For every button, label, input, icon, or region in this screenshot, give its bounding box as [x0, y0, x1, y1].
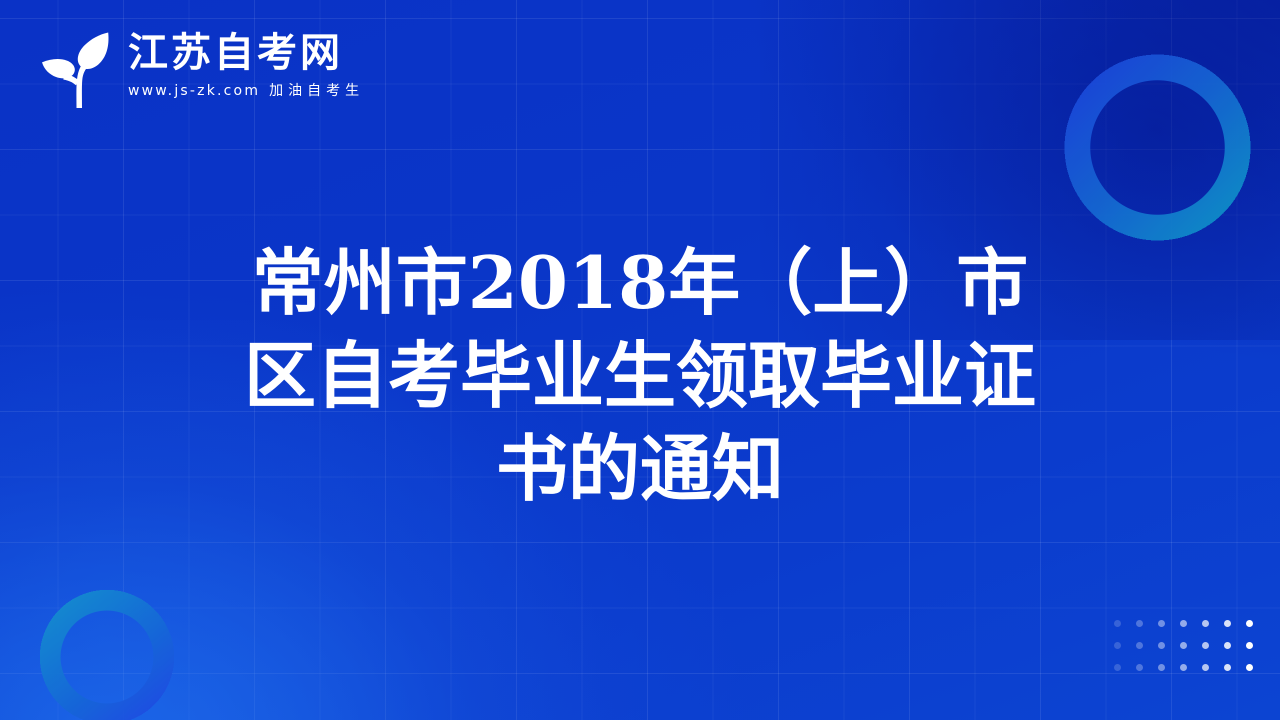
logo-wordmark: 江苏自考网 www.js-zk.com 加油自考生	[128, 32, 364, 99]
page-title-line: 常州市2018年（上）市	[180, 236, 1100, 329]
decorative-dot	[1158, 642, 1165, 649]
logo-site-name: 江苏自考网	[128, 32, 364, 75]
page-title-line: 区自考毕业生领取毕业证	[180, 329, 1100, 422]
decorative-dot	[1246, 642, 1253, 649]
decorative-dot	[1202, 664, 1209, 671]
page-title-line: 书的通知	[180, 422, 1100, 515]
decorative-dot	[1136, 620, 1143, 627]
decorative-dot	[1158, 664, 1165, 671]
decorative-dot	[1224, 642, 1231, 649]
poster-canvas: 江苏自考网 www.js-zk.com 加油自考生 常州市2018年（上）市 区…	[0, 0, 1280, 720]
site-logo[interactable]: 江苏自考网 www.js-zk.com 加油自考生	[36, 24, 364, 108]
logo-subline: www.js-zk.com 加油自考生	[128, 80, 364, 100]
ring-stroke	[12, 562, 202, 720]
decorative-dot	[1180, 664, 1187, 671]
decorative-dot	[1136, 664, 1143, 671]
decorative-ring-bottom-left	[12, 562, 202, 720]
page-title: 常州市2018年（上）市 区自考毕业生领取毕业证 书的通知	[0, 236, 1280, 515]
decorative-dot	[1114, 620, 1121, 627]
decorative-dot	[1224, 620, 1231, 627]
logo-url: www.js-zk.com	[128, 83, 260, 99]
decorative-dot	[1246, 664, 1253, 671]
decorative-dot	[1224, 664, 1231, 671]
decorative-dot	[1180, 620, 1187, 627]
decorative-dot	[1136, 642, 1143, 649]
decorative-dot-matrix	[1106, 612, 1260, 678]
decorative-dot	[1158, 620, 1165, 627]
decorative-dot	[1246, 620, 1253, 627]
decorative-dot	[1180, 642, 1187, 649]
decorative-dot	[1114, 664, 1121, 671]
sprout-icon	[36, 24, 114, 108]
decorative-dot	[1114, 642, 1121, 649]
logo-slogan: 加油自考生	[269, 80, 364, 100]
decorative-dot	[1202, 620, 1209, 627]
decorative-dot	[1202, 642, 1209, 649]
